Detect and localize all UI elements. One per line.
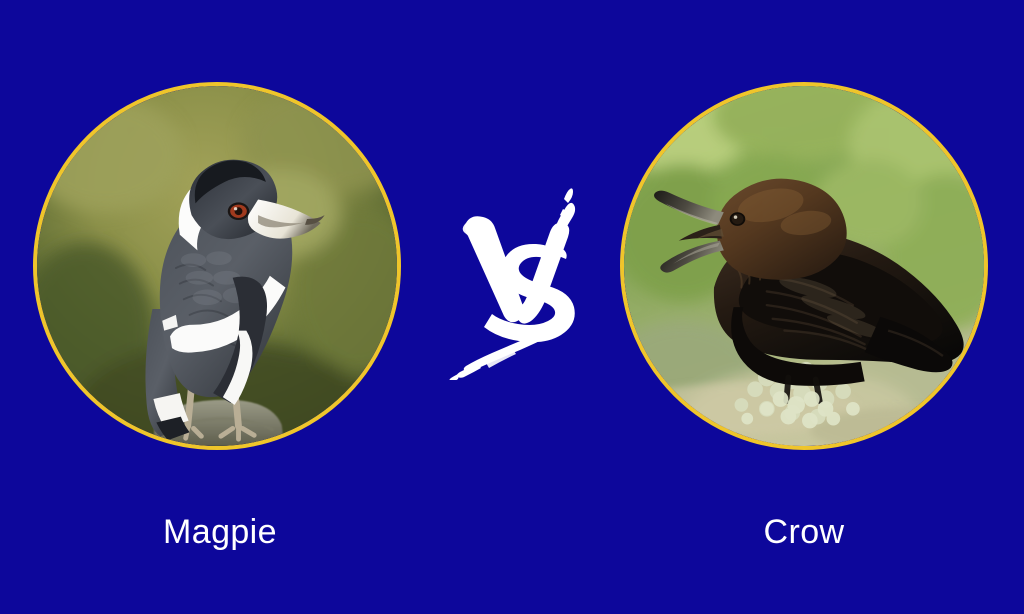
magpie-medallion[interactable] [33, 82, 401, 450]
comparison-graphic: Magpie Crow [0, 0, 1024, 614]
crow-caption: Crow [584, 510, 1024, 554]
versus-mark [448, 185, 578, 380]
magpie-caption: Magpie [0, 510, 440, 554]
crow-medallion[interactable] [620, 82, 988, 450]
magpie-photo [37, 86, 397, 446]
crow-photo [624, 86, 984, 446]
